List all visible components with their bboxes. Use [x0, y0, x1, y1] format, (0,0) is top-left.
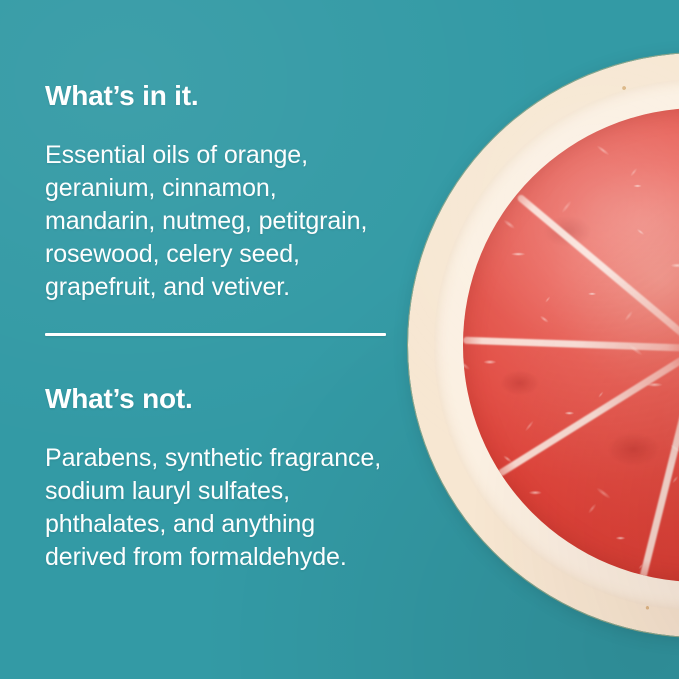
grapefruit-segment-membranes	[463, 108, 679, 581]
excluded-line: sodium lauryl sulfates,	[45, 475, 475, 508]
section-divider	[45, 333, 386, 336]
ingredients-line: geranium, cinnamon,	[45, 172, 475, 205]
segment-divider	[498, 346, 679, 477]
ingredients-text-panel: What’s in it. Essential oils of orange, …	[45, 0, 475, 679]
excluded-line: Parabens, synthetic fragrance,	[45, 442, 475, 475]
poster-canvas: What’s in it. Essential oils of orange, …	[0, 0, 679, 679]
ingredients-line: grapefruit, and vetiver.	[45, 271, 475, 304]
grapefruit-flesh	[463, 108, 679, 581]
excluded-ingredients-list: Parabens, synthetic fragrance, sodium la…	[45, 442, 475, 574]
ingredients-list: Essential oils of orange, geranium, cinn…	[45, 139, 475, 304]
ingredients-line: rosewood, celery seed,	[45, 238, 475, 271]
segment-divider	[517, 194, 679, 351]
ingredients-line: mandarin, nutmeg, petitgrain,	[45, 205, 475, 238]
whats-not-heading: What’s not.	[45, 383, 193, 415]
segment-divider	[463, 337, 679, 352]
excluded-line: phthalates, and anything	[45, 508, 475, 541]
whats-in-it-heading: What’s in it.	[45, 80, 198, 112]
excluded-line: derived from formaldehyde.	[45, 541, 475, 574]
ingredients-line: Essential oils of orange,	[45, 139, 475, 172]
